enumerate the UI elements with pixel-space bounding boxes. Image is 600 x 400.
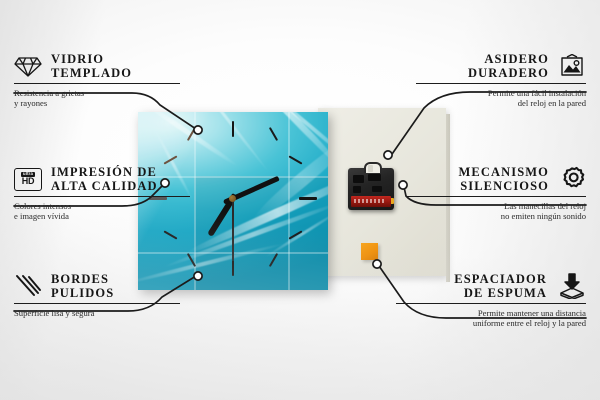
feature-divider bbox=[14, 83, 180, 84]
polished-edges-icon bbox=[14, 274, 42, 298]
feature-header: ESPACIADOR DE ESPUMA bbox=[396, 272, 586, 300]
feature-title-line1: MECANISMO bbox=[459, 165, 549, 179]
feature-title-line2: TEMPLADO bbox=[51, 66, 132, 80]
feature-title: IMPRESIÓN DE ALTA CALIDAD bbox=[51, 165, 158, 193]
feature-divider bbox=[396, 303, 586, 304]
feature-title: ASIDERO DURADERO bbox=[468, 52, 549, 80]
feature-desc-line1: Las manecillas del reloj bbox=[406, 201, 586, 211]
feature-desc-line1: Resistencia a grietas bbox=[14, 88, 184, 98]
feature-title-line2: SILENCIOSO bbox=[459, 179, 549, 193]
ultra-hd-badge-large-text: HD bbox=[22, 177, 35, 186]
feature-vidrio-templado: VIDRIO TEMPLADO Resistencia a grietas y … bbox=[14, 52, 184, 109]
infographic-canvas: VIDRIO TEMPLADO Resistencia a grietas y … bbox=[0, 0, 600, 400]
feature-espaciador-de-espuma: ESPACIADOR DE ESPUMA Permite mantener un… bbox=[396, 272, 586, 329]
feature-desc-line1: Colores intensos bbox=[14, 201, 194, 211]
feature-divider bbox=[14, 196, 190, 197]
feature-divider bbox=[406, 196, 586, 197]
feature-title-line1: ASIDERO bbox=[468, 52, 549, 66]
feature-title-line1: BORDES bbox=[51, 272, 114, 286]
feature-desc-line2: uniforme entre el reloj y la pared bbox=[396, 318, 586, 328]
feature-title-line1: ESPACIADOR bbox=[454, 272, 547, 286]
ultra-hd-badge-icon: ultra HD bbox=[14, 168, 42, 191]
feature-desc-line2: y rayones bbox=[14, 98, 184, 108]
feature-divider bbox=[416, 83, 586, 84]
feature-header: ASIDERO DURADERO bbox=[416, 52, 586, 80]
feature-desc-line2: e imagen vívida bbox=[14, 211, 194, 221]
gear-icon bbox=[558, 166, 586, 192]
feature-title: MECANISMO SILENCIOSO bbox=[459, 165, 549, 193]
feature-title: BORDES PULIDOS bbox=[51, 272, 114, 300]
connector-endpoint bbox=[373, 260, 381, 268]
picture-hanger-icon bbox=[558, 54, 586, 78]
feature-divider bbox=[14, 303, 180, 304]
feature-desc-line1: Permite mantener una distancia bbox=[396, 308, 586, 318]
feature-title-line1: IMPRESIÓN DE bbox=[51, 165, 158, 179]
connector-endpoint bbox=[194, 272, 202, 280]
feature-asidero-duradero: ASIDERO DURADERO Permite una fácil insta… bbox=[416, 52, 586, 109]
feature-header: BORDES PULIDOS bbox=[14, 272, 184, 300]
feature-header: VIDRIO TEMPLADO bbox=[14, 52, 184, 80]
feature-title-line2: ALTA CALIDAD bbox=[51, 179, 158, 193]
feature-bordes-pulidos: BORDES PULIDOS Superficie lisa y segura bbox=[14, 272, 184, 318]
feature-header: ultra HD IMPRESIÓN DE ALTA CALIDAD bbox=[14, 165, 194, 193]
feature-title-line2: DURADERO bbox=[468, 66, 549, 80]
connector-endpoint bbox=[194, 126, 202, 134]
feature-impresion-alta-calidad: ultra HD IMPRESIÓN DE ALTA CALIDAD Color… bbox=[14, 165, 194, 222]
feature-mecanismo-silencioso: MECANISMO SILENCIOSO Las manecillas del … bbox=[406, 165, 586, 222]
feature-title-line1: VIDRIO bbox=[51, 52, 132, 66]
feature-title: ESPACIADOR DE ESPUMA bbox=[454, 272, 547, 300]
diamond-icon bbox=[14, 54, 42, 78]
feature-desc-line2: no emiten ningún sonido bbox=[406, 211, 586, 221]
connector-endpoint bbox=[384, 151, 392, 159]
feature-title-line2: DE ESPUMA bbox=[454, 286, 547, 300]
foam-spacer-arrow-icon bbox=[556, 273, 586, 299]
feature-header: MECANISMO SILENCIOSO bbox=[406, 165, 586, 193]
feature-desc-line2: del reloj en la pared bbox=[416, 98, 586, 108]
feature-desc-line1: Superficie lisa y segura bbox=[14, 308, 184, 318]
feature-title: VIDRIO TEMPLADO bbox=[51, 52, 132, 80]
feature-title-line2: PULIDOS bbox=[51, 286, 114, 300]
feature-desc-line1: Permite una fácil instalación bbox=[416, 88, 586, 98]
